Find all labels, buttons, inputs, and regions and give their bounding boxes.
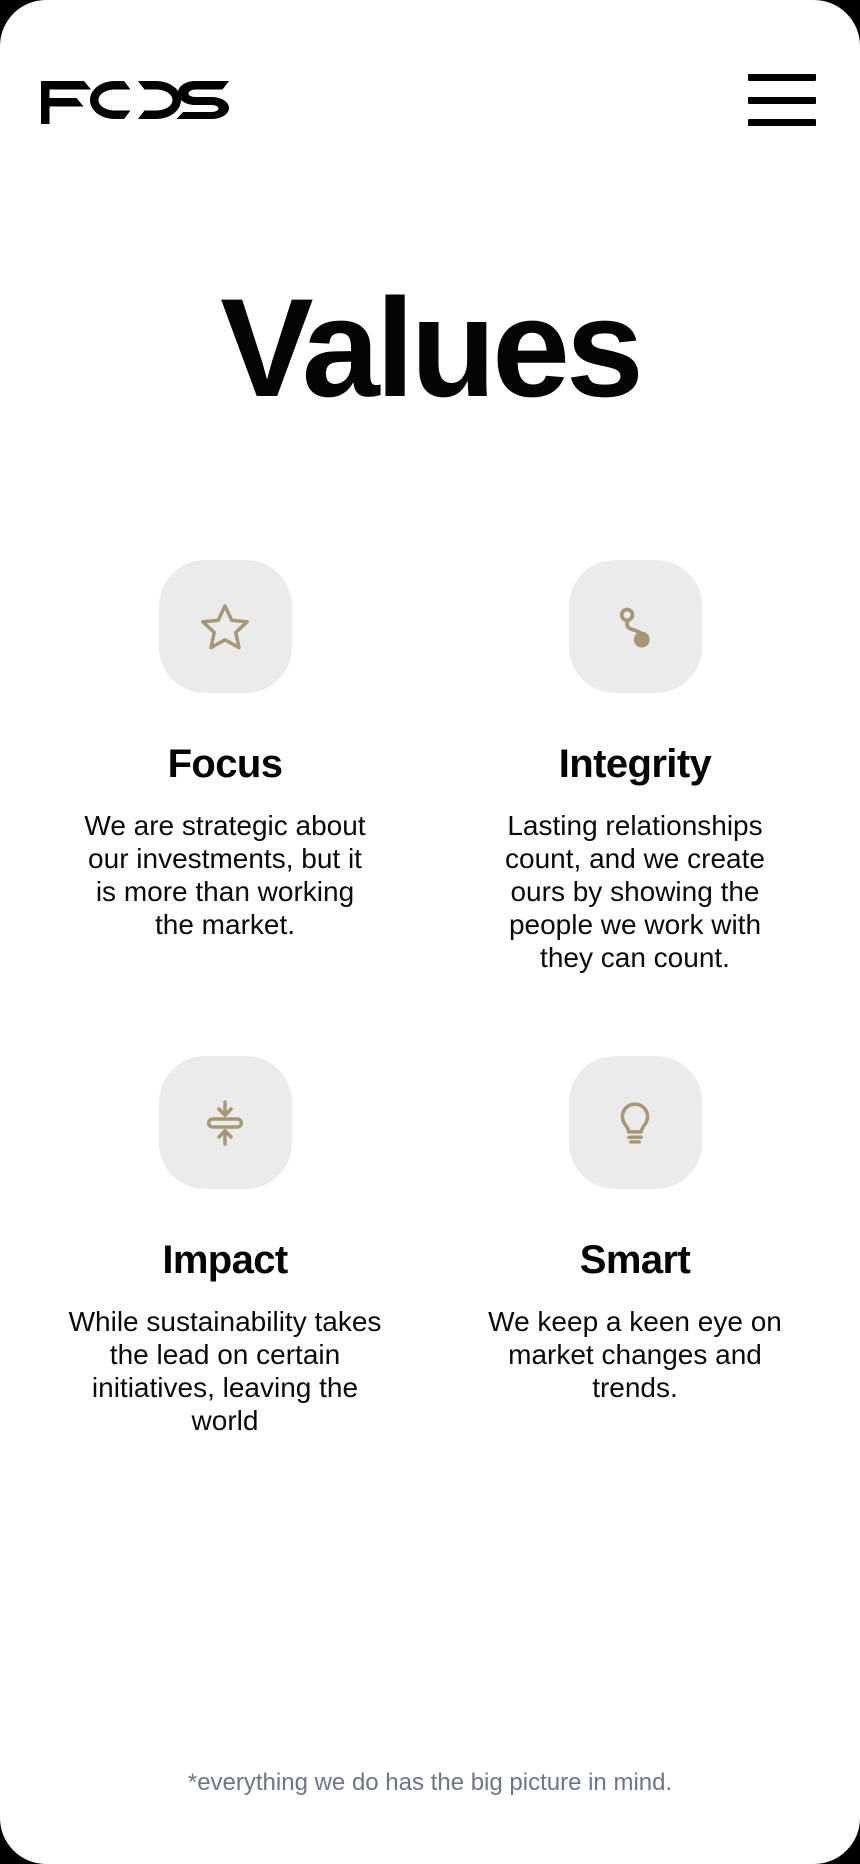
hamburger-icon-bar-middle (748, 97, 816, 104)
value-card-focus: Focus We are strategic about our investm… (20, 560, 430, 974)
value-icon-tile-focus (159, 560, 292, 693)
hamburger-icon-bar-bottom (748, 119, 816, 126)
value-title-integrity: Integrity (559, 741, 711, 787)
hamburger-icon-bar-top (748, 74, 816, 81)
footnote: *everything we do has the big picture in… (0, 1767, 860, 1798)
value-title-impact: Impact (162, 1237, 287, 1283)
value-card-integrity: Integrity Lasting relationships count, a… (430, 560, 840, 974)
page-canvas: Values Focus We are strategic about our … (0, 0, 860, 1864)
value-title-smart: Smart (580, 1237, 690, 1283)
lightbulb-icon (607, 1095, 663, 1151)
value-icon-tile-integrity (569, 560, 702, 693)
value-icon-tile-impact (159, 1056, 292, 1189)
node-branch-icon (607, 599, 663, 655)
hamburger-menu-button[interactable] (748, 74, 816, 126)
site-header (0, 0, 860, 200)
value-body-impact: While sustainability takes the lead on c… (65, 1305, 385, 1437)
values-grid: Focus We are strategic about our investm… (0, 560, 860, 1437)
value-card-smart: Smart We keep a keen eye on market chang… (430, 1056, 840, 1437)
page-title: Values (0, 278, 860, 418)
vertical-compress-icon (197, 1095, 253, 1151)
value-icon-tile-smart (569, 1056, 702, 1189)
star-icon (197, 599, 253, 655)
value-title-focus: Focus (168, 741, 283, 787)
value-body-focus: We are strategic about our investments, … (75, 809, 375, 941)
value-body-integrity: Lasting relationships count, and we crea… (485, 809, 785, 974)
logo-link[interactable] (40, 76, 230, 124)
value-card-impact: Impact While sustainability takes the le… (20, 1056, 430, 1437)
value-body-smart: We keep a keen eye on market changes and… (485, 1305, 785, 1404)
fcds-wordmark (40, 76, 230, 124)
phone-frame: Values Focus We are strategic about our … (0, 0, 860, 1864)
